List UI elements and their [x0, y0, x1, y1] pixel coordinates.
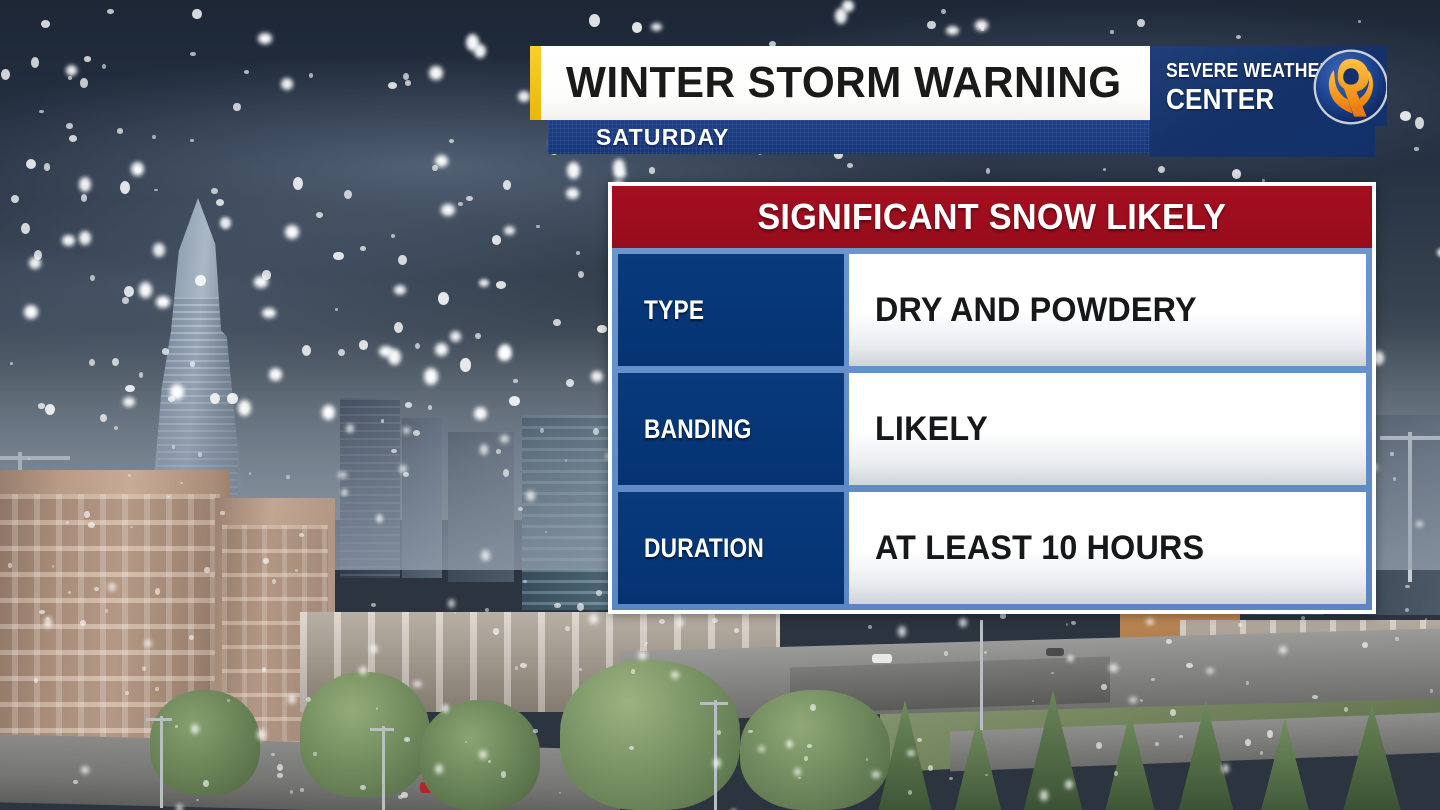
street-light-arm-c — [700, 702, 728, 705]
row-label-cell-banding: BANDING — [618, 373, 844, 485]
vehicle-white — [872, 654, 892, 663]
day-subtitle-bar: SATURDAY — [548, 120, 1150, 154]
snow-details-panel: SIGNIFICANT SNOW LIKELY TYPE DRY AND POW… — [608, 182, 1376, 614]
street-light-arm-b — [370, 728, 394, 731]
tree-deciduous-d — [560, 660, 740, 810]
row-value-text: AT LEAST 10 HOURS — [875, 529, 1204, 568]
day-subtitle-text: SATURDAY — [596, 124, 730, 151]
row-label-cell-duration: DURATION — [618, 492, 844, 604]
row-value-cell-duration: AT LEAST 10 HOURS — [849, 492, 1366, 604]
severe-weather-center-logo-block: SEVERE WEATHER CENTER — [1150, 46, 1387, 157]
street-light-pole-c — [714, 700, 717, 810]
street-light-pole-b — [382, 726, 385, 810]
tree-deciduous-b — [300, 672, 430, 797]
row-label-text: BANDING — [644, 414, 752, 445]
street-light-pole-d — [980, 620, 983, 730]
vehicle-dark — [1046, 648, 1064, 656]
logo-line-2: CENTER — [1166, 84, 1301, 117]
logo-line-1: SEVERE WEATHER — [1166, 60, 1298, 83]
street-light-arm-a — [146, 718, 172, 721]
row-value-text: LIKELY — [875, 410, 988, 449]
panel-inner-frame: SIGNIFICANT SNOW LIKELY TYPE DRY AND POW… — [612, 186, 1372, 610]
panel-header-text: SIGNIFICANT SNOW LIKELY — [758, 196, 1227, 238]
row-label-text: TYPE — [644, 295, 704, 326]
channel-9-swoosh-icon — [1312, 48, 1390, 126]
logo-wordmark: SEVERE WEATHER CENTER — [1166, 60, 1316, 117]
row-value-text: DRY AND POWDERY — [875, 291, 1197, 330]
table-row: DURATION AT LEAST 10 HOURS — [618, 492, 1366, 604]
row-label-text: DURATION — [644, 533, 764, 564]
table-row: TYPE DRY AND POWDERY — [618, 254, 1366, 366]
tree-deciduous-a — [150, 690, 260, 795]
tree-deciduous-c — [420, 700, 540, 810]
panel-header: SIGNIFICANT SNOW LIKELY — [612, 186, 1372, 248]
row-value-cell-type: DRY AND POWDERY — [849, 254, 1366, 366]
street-light-pole-a — [160, 716, 163, 808]
table-row: BANDING LIKELY — [618, 373, 1366, 485]
warning-title-bar: WINTER STORM WARNING — [530, 46, 1150, 120]
row-value-cell-banding: LIKELY — [849, 373, 1366, 485]
warning-title-text: WINTER STORM WARNING — [566, 58, 1122, 108]
detail-rows: TYPE DRY AND POWDERY BANDING LIKELY DURA… — [612, 248, 1372, 610]
yellow-accent-bar — [530, 46, 541, 120]
row-label-cell-type: TYPE — [618, 254, 844, 366]
tree-deciduous-e — [740, 690, 890, 810]
